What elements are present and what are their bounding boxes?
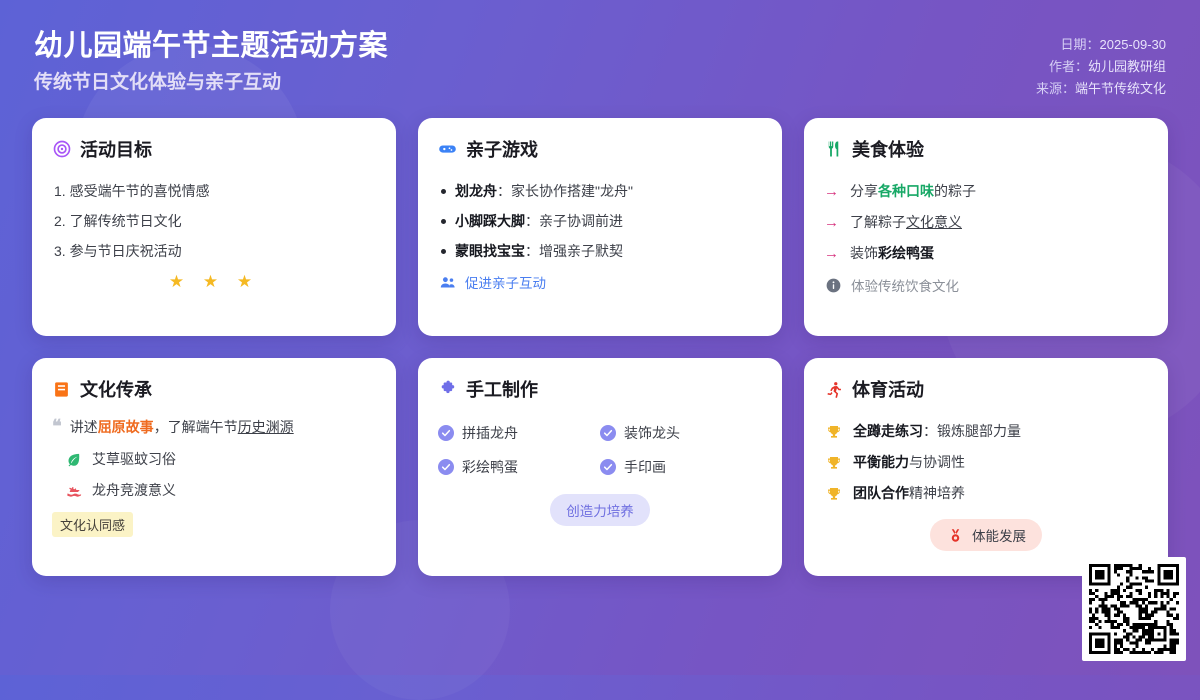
page-header: 幼儿园端午节主题活动方案 传统节日文化体验与亲子互动 日期：2025-09-30… — [0, 0, 1200, 118]
item-sep: ： — [525, 213, 539, 229]
list-item: →了解粽子文化意义 — [824, 207, 1148, 238]
people-icon — [438, 273, 457, 292]
item-pre: 装饰 — [850, 245, 878, 261]
card-title: 文化传承 — [80, 376, 152, 402]
card-title: 亲子游戏 — [466, 136, 538, 162]
card-sports-activity[interactable]: 体育活动 全蹲走练习：锻炼腿部力量 平衡能力与协调性 团队合作精神培养 体能发展 — [804, 358, 1168, 576]
goals-list: 感受端午节的喜悦情感 了解传统节日文化 参与节日庆祝活动 — [52, 176, 376, 266]
item-rest: 精神培养 — [909, 485, 965, 501]
card-handcraft[interactable]: 手工制作 拼插龙舟 装饰龙头 彩绘鸭蛋 手印画 创造力培养 — [418, 358, 782, 576]
item-highlight: 各种口味 — [878, 183, 934, 199]
item-text: 团队合作精神培养 — [853, 478, 965, 509]
check-icon — [600, 459, 616, 475]
item-label: 彩绘鸭蛋 — [462, 450, 518, 484]
leaf-icon — [64, 450, 83, 469]
item-underline: 文化意义 — [906, 214, 962, 230]
culture-subitems: 艾草驱蚊习俗 龙舟竞渡意义 — [52, 444, 376, 506]
card-header: 美食体验 — [824, 136, 1148, 162]
trophy-icon — [824, 422, 843, 441]
item-bold: 彩绘鸭蛋 — [878, 245, 934, 261]
badge-row: 体能发展 — [824, 519, 1148, 551]
card-header: 体育活动 — [824, 376, 1148, 402]
target-icon — [52, 140, 71, 159]
card-title: 手工制作 — [466, 376, 538, 402]
card-activity-goals[interactable]: 活动目标 感受端午节的喜悦情感 了解传统节日文化 参与节日庆祝活动 ★ ★ ★ — [32, 118, 396, 336]
item-desc: 家长协作搭建"龙舟" — [511, 183, 633, 199]
book-icon — [52, 380, 71, 399]
item-sep: ： — [923, 423, 937, 439]
quote-highlight: 屈原故事 — [98, 419, 154, 435]
qr-code-canvas — [1089, 564, 1179, 654]
list-item: 蒙眼找宝宝：增强亲子默契 — [438, 236, 762, 266]
subitem-text: 龙舟竞渡意义 — [92, 475, 176, 506]
card-parent-child-games[interactable]: 亲子游戏 划龙舟：家长协作搭建"龙舟" 小脚踩大脚：亲子协调前进 蒙眼找宝宝：增… — [418, 118, 782, 336]
quote-mid: ，了解端午节 — [154, 419, 238, 435]
item-bold: 平衡能力 — [853, 454, 909, 470]
meta-source-label: 来源： — [1036, 81, 1075, 96]
card-header: 活动目标 — [52, 136, 376, 162]
card-title: 美食体验 — [852, 136, 924, 162]
fitness-badge-text: 体能发展 — [972, 525, 1026, 545]
item-label: 拼插龙舟 — [462, 416, 518, 450]
item-bold: 全蹲走练习 — [853, 423, 923, 439]
quote-icon: ❝ — [52, 416, 62, 436]
quote-block: ❝ 讲述屈原故事，了解端午节历史渊源 — [52, 416, 376, 438]
quote-text: 讲述屈原故事，了解端午节历史渊源 — [70, 416, 294, 438]
item-label: 手印画 — [624, 450, 666, 484]
meta-author-value: 幼儿园教研组 — [1088, 59, 1166, 74]
puzzle-icon — [438, 380, 457, 399]
card-header: 手工制作 — [438, 376, 762, 402]
list-item: 了解传统节日文化 — [52, 206, 376, 236]
list-item: 参与节日庆祝活动 — [52, 236, 376, 266]
list-item: 龙舟竞渡意义 — [52, 475, 376, 506]
trophy-icon — [824, 484, 843, 503]
handcraft-list: 拼插龙舟 装饰龙头 彩绘鸭蛋 手印画 — [438, 416, 762, 484]
arrow-icon: → — [824, 207, 839, 238]
list-item: 拼插龙舟 — [438, 416, 600, 450]
header-meta: 日期：2025-09-30 作者：幼儿园教研组 来源：端午节传统文化 — [1036, 34, 1166, 100]
arrow-icon: → — [824, 176, 839, 207]
list-item: 感受端午节的喜悦情感 — [52, 176, 376, 206]
item-rest: 锻炼腿部力量 — [937, 423, 1021, 439]
item-term: 蒙眼找宝宝 — [455, 243, 525, 259]
meta-date: 日期：2025-09-30 — [1036, 34, 1166, 56]
item-sep: ： — [497, 183, 511, 199]
sports-list: 全蹲走练习：锻炼腿部力量 平衡能力与协调性 团队合作精神培养 — [824, 416, 1148, 509]
quote-underline: 历史渊源 — [238, 419, 294, 435]
meta-author-label: 作者： — [1049, 59, 1088, 74]
card-food-experience[interactable]: 美食体验 →分享各种口味的粽子 →了解粽子文化意义 →装饰彩绘鸭蛋 体验传统饮食… — [804, 118, 1168, 336]
list-item: 装饰龙头 — [600, 416, 762, 450]
card-footer-note: 体验传统饮食文化 — [824, 275, 1148, 295]
item-post: 的粽子 — [934, 183, 976, 199]
item-bold: 团队合作 — [853, 485, 909, 501]
qr-code[interactable] — [1082, 557, 1186, 661]
item-pre: 分享 — [850, 183, 878, 199]
item-label: 装饰龙头 — [624, 416, 680, 450]
medal-icon — [946, 526, 965, 545]
list-item: 团队合作精神培养 — [824, 478, 1148, 509]
food-list: →分享各种口味的粽子 →了解粽子文化意义 →装饰彩绘鸭蛋 — [824, 176, 1148, 269]
card-footer-note: 促进亲子互动 — [438, 272, 762, 292]
meta-source: 来源：端午节传统文化 — [1036, 78, 1166, 100]
meta-source-value: 端午节传统文化 — [1075, 81, 1166, 96]
list-item: 彩绘鸭蛋 — [438, 450, 600, 484]
check-icon — [600, 425, 616, 441]
item-desc: 亲子协调前进 — [539, 213, 623, 229]
page-title: 幼儿园端午节主题活动方案 — [34, 26, 1166, 66]
list-item: 艾草驱蚊习俗 — [52, 444, 376, 475]
item-term: 小脚踩大脚 — [455, 213, 525, 229]
badge-row: 创造力培养 — [438, 494, 762, 526]
meta-date-label: 日期： — [1060, 37, 1099, 52]
check-icon — [438, 459, 454, 475]
list-item: 全蹲走练习：锻炼腿部力量 — [824, 416, 1148, 447]
card-culture-heritage[interactable]: 文化传承 ❝ 讲述屈原故事，了解端午节历史渊源 艾草驱蚊习俗 龙舟竞渡意义 文化… — [32, 358, 396, 576]
culture-tag: 文化认同感 — [52, 512, 133, 537]
trophy-icon — [824, 453, 843, 472]
list-item: →分享各种口味的粽子 — [824, 176, 1148, 207]
card-title: 体育活动 — [852, 376, 924, 402]
page-subtitle: 传统节日文化体验与亲子互动 — [34, 68, 1166, 98]
utensils-icon — [824, 140, 843, 159]
meta-date-value: 2025-09-30 — [1100, 37, 1167, 52]
creativity-badge: 创造力培养 — [550, 494, 650, 526]
footer-note-text: 促进亲子互动 — [465, 272, 546, 292]
item-text: 全蹲走练习：锻炼腿部力量 — [853, 416, 1021, 447]
arrow-icon: → — [824, 238, 839, 269]
star-rating: ★ ★ ★ — [52, 272, 376, 292]
item-term: 划龙舟 — [455, 183, 497, 199]
list-item: 平衡能力与协调性 — [824, 447, 1148, 478]
item-text: 平衡能力与协调性 — [853, 447, 965, 478]
item-sep: ： — [525, 243, 539, 259]
dragon-boat-icon — [64, 481, 83, 500]
card-title: 活动目标 — [80, 136, 152, 162]
meta-author: 作者：幼儿园教研组 — [1036, 56, 1166, 78]
cards-grid: 活动目标 感受端午节的喜悦情感 了解传统节日文化 参与节日庆祝活动 ★ ★ ★ … — [32, 118, 1168, 576]
list-item: →装饰彩绘鸭蛋 — [824, 238, 1148, 269]
list-item: 手印画 — [600, 450, 762, 484]
subitem-text: 艾草驱蚊习俗 — [92, 444, 176, 475]
footer-note-text: 体验传统饮食文化 — [851, 275, 959, 295]
running-icon — [824, 380, 843, 399]
item-pre: 了解粽子 — [850, 214, 906, 230]
card-header: 文化传承 — [52, 376, 376, 402]
fitness-badge: 体能发展 — [930, 519, 1042, 551]
games-list: 划龙舟：家长协作搭建"龙舟" 小脚踩大脚：亲子协调前进 蒙眼找宝宝：增强亲子默契 — [438, 176, 762, 266]
item-rest: 与协调性 — [909, 454, 965, 470]
gamepad-icon — [438, 140, 457, 159]
check-icon — [438, 425, 454, 441]
quote-pre: 讲述 — [70, 419, 98, 435]
list-item: 小脚踩大脚：亲子协调前进 — [438, 206, 762, 236]
item-desc: 增强亲子默契 — [539, 243, 623, 259]
list-item: 划龙舟：家长协作搭建"龙舟" — [438, 176, 762, 206]
info-icon — [824, 276, 843, 295]
card-header: 亲子游戏 — [438, 136, 762, 162]
